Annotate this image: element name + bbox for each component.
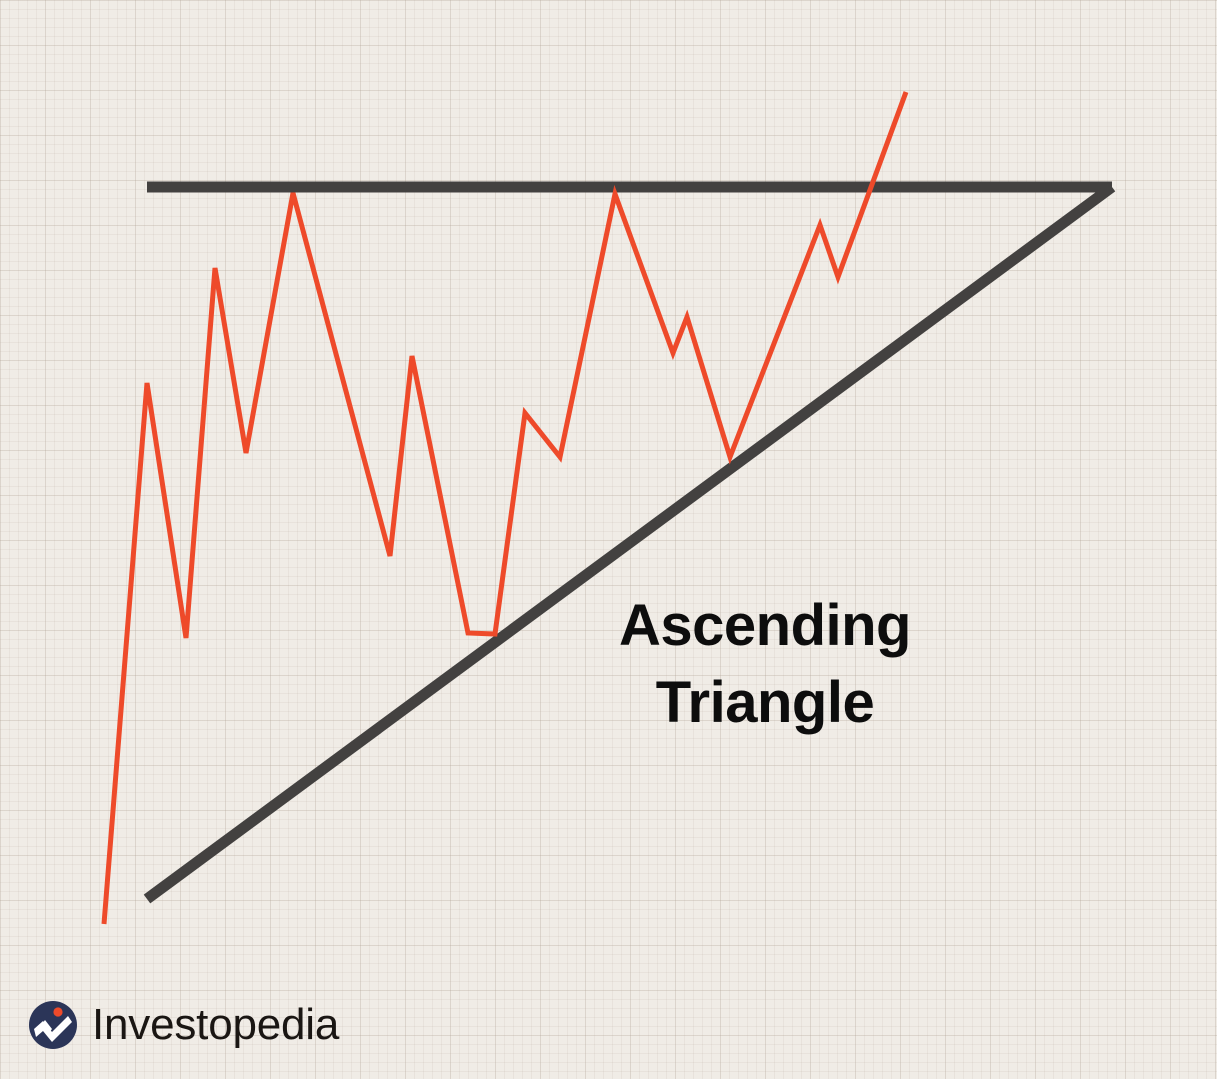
pattern-label-line-2: Triangle — [575, 665, 955, 742]
pattern-label: Ascending Triangle — [575, 588, 955, 741]
ascending-triangle-chart — [0, 0, 1217, 1079]
price-line — [104, 92, 906, 924]
support-line — [147, 187, 1112, 899]
figure-canvas: Ascending Triangle Investopedia — [0, 0, 1217, 1079]
investopedia-mark-icon — [28, 1000, 78, 1050]
pattern-label-line-1: Ascending — [575, 588, 955, 665]
investopedia-wordmark: Investopedia — [92, 1003, 339, 1047]
investopedia-logo: Investopedia — [28, 1000, 339, 1050]
trendline-group — [147, 187, 1112, 899]
